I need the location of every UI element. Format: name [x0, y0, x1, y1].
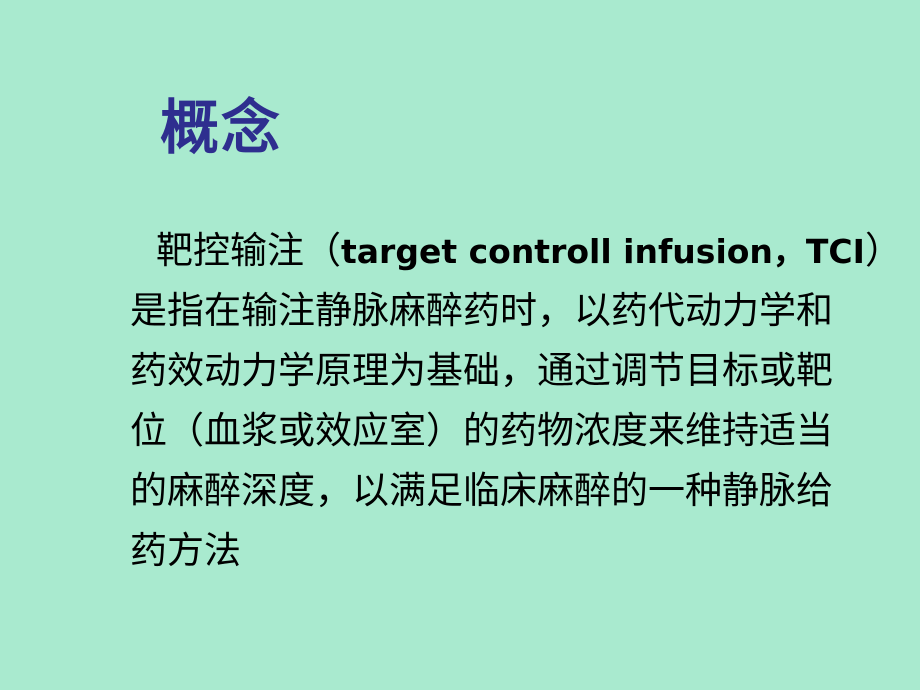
body-line-5: 的麻醉深度，以满足临床麻醉的一种静脉给	[130, 462, 846, 522]
body-line-1-latin-term: target controll infusion	[341, 232, 773, 271]
body-line-1-abbreviation: TCI	[806, 232, 865, 271]
slide-body-text: 靶控输注（target controll infusion，TCI） 是指在输注…	[130, 222, 846, 582]
body-line-1-separator: ，	[773, 232, 806, 271]
body-line-1: 靶控输注（target controll infusion，TCI）	[130, 222, 846, 282]
body-line-6: 药方法	[130, 522, 846, 582]
body-line-4: 位（血浆或效应室）的药物浓度来维持适当	[130, 402, 846, 462]
body-line-1-suffix: ）	[865, 231, 902, 272]
body-line-3: 药效动力学原理为基础，通过调节目标或靶	[130, 342, 846, 402]
body-line-2: 是指在输注静脉麻醉药时，以药代动力学和	[130, 282, 846, 342]
page-title: 概念	[160, 92, 282, 164]
body-line-1-prefix: 靶控输注（	[156, 231, 341, 272]
presentation-slide: 概念 靶控输注（target controll infusion，TCI） 是指…	[0, 0, 920, 690]
